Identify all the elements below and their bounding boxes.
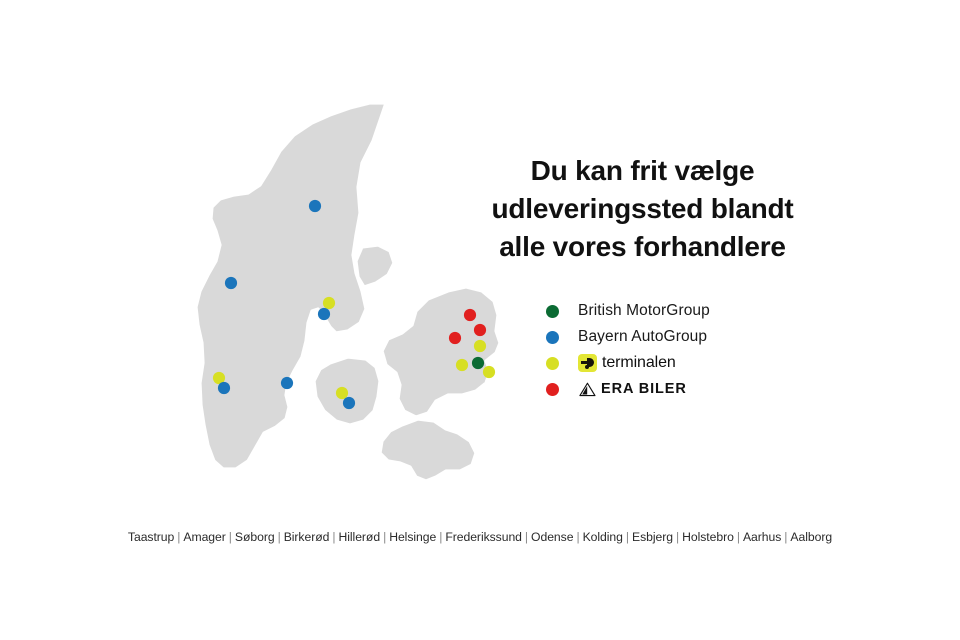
legend-item-british-motorgroup[interactable]: British MotorGroup (546, 298, 846, 324)
footer-city-aarhus: Aarhus (743, 530, 781, 544)
footer-city-kolding: Kolding (583, 530, 623, 544)
footer-city-amager: Amager (183, 530, 225, 544)
map-marker-holstebro[interactable] (225, 277, 237, 289)
city-separator: | (623, 530, 632, 544)
city-separator: | (522, 530, 531, 544)
map-marker-aarhus[interactable] (323, 297, 335, 309)
footer-city-hiller-d: Hillerød (338, 530, 380, 544)
headline-line-1: Du kan frit vælge (455, 152, 830, 190)
legend-dot-yellow (546, 357, 559, 370)
map-marker-aalborg[interactable] (309, 200, 321, 212)
city-separator: | (380, 530, 389, 544)
legend-label-british-motorgroup: British MotorGroup (578, 302, 710, 320)
map-marker-esbjerg[interactable] (218, 382, 230, 394)
era-biler-triangle-icon (578, 382, 596, 397)
legend-item-terminalen[interactable]: terminalen (546, 350, 846, 376)
lolland-falster-landmass (380, 419, 476, 481)
map-marker-frederikssund[interactable] (449, 332, 461, 344)
era-biler-logo: ERA BILER (578, 381, 687, 397)
page-title: Du kan frit vælge udleveringssted blandt… (455, 152, 830, 266)
city-separator: | (673, 530, 682, 544)
footer-city-s-borg: Søborg (235, 530, 275, 544)
legend-dot-green (546, 305, 559, 318)
map-marker-kolding[interactable] (281, 377, 293, 389)
legend-label-wrap: ERA BILER (578, 378, 687, 400)
footer-city-list: Taastrup|Amager|Søborg|Birkerød|Hillerød… (0, 530, 960, 544)
terminalen-glyph-wheel (585, 365, 589, 369)
footer-city-esbjerg: Esbjerg (632, 530, 673, 544)
footer-city-frederikssund: Frederikssund (445, 530, 522, 544)
legend-label-bayern-autogroup: Bayern AutoGroup (578, 328, 707, 346)
map-marker-s-borg[interactable] (456, 359, 468, 371)
terminalen-logo: terminalen (578, 354, 676, 372)
legend-label-wrap: British MotorGroup (578, 300, 710, 322)
city-separator: | (226, 530, 235, 544)
headline-line-3: alle vores forhandlere (455, 228, 830, 266)
map-marker-odense[interactable] (336, 387, 348, 399)
footer-city-holstebro: Holstebro (682, 530, 734, 544)
map-marker-amager[interactable] (472, 357, 484, 369)
footer-city-aalborg: Aalborg (790, 530, 832, 544)
legend-label-wrap: Bayern AutoGroup (578, 326, 707, 348)
city-separator: | (275, 530, 284, 544)
map-marker-aarhus[interactable] (318, 308, 330, 320)
legend-label-terminalen: terminalen (602, 354, 676, 372)
footer-city-helsinge: Helsinge (389, 530, 436, 544)
map-marker-hiller-d[interactable] (474, 324, 486, 336)
map-marker-birker-d[interactable] (474, 340, 486, 352)
footer-city-odense: Odense (531, 530, 573, 544)
legend-label-wrap: terminalen (578, 352, 676, 374)
legend-label-era-biler: ERA BILER (601, 381, 687, 397)
zealand-landmass (382, 287, 500, 417)
map-marker-helsinge[interactable] (464, 309, 476, 321)
footer-city-taastrup: Taastrup (128, 530, 174, 544)
city-separator: | (573, 530, 582, 544)
legend-item-era-biler[interactable]: ERA BILER (546, 376, 846, 402)
brand-legend: British MotorGroup Bayern AutoGroup term… (546, 298, 846, 402)
legend-item-bayern-autogroup[interactable]: Bayern AutoGroup (546, 324, 846, 350)
headline-line-2: udleveringssted blandt (455, 190, 830, 228)
footer-city-birker-d: Birkerød (284, 530, 330, 544)
legend-dot-red (546, 383, 559, 396)
map-marker-odense[interactable] (343, 397, 355, 409)
legend-dot-blue (546, 331, 559, 344)
city-separator: | (436, 530, 445, 544)
map-marker-taastrup[interactable] (483, 366, 495, 378)
djursland-landmass (356, 245, 394, 287)
poster-canvas: Du kan frit vælge udleveringssted blandt… (0, 0, 960, 640)
terminalen-mark-icon (578, 354, 597, 372)
city-separator: | (734, 530, 743, 544)
